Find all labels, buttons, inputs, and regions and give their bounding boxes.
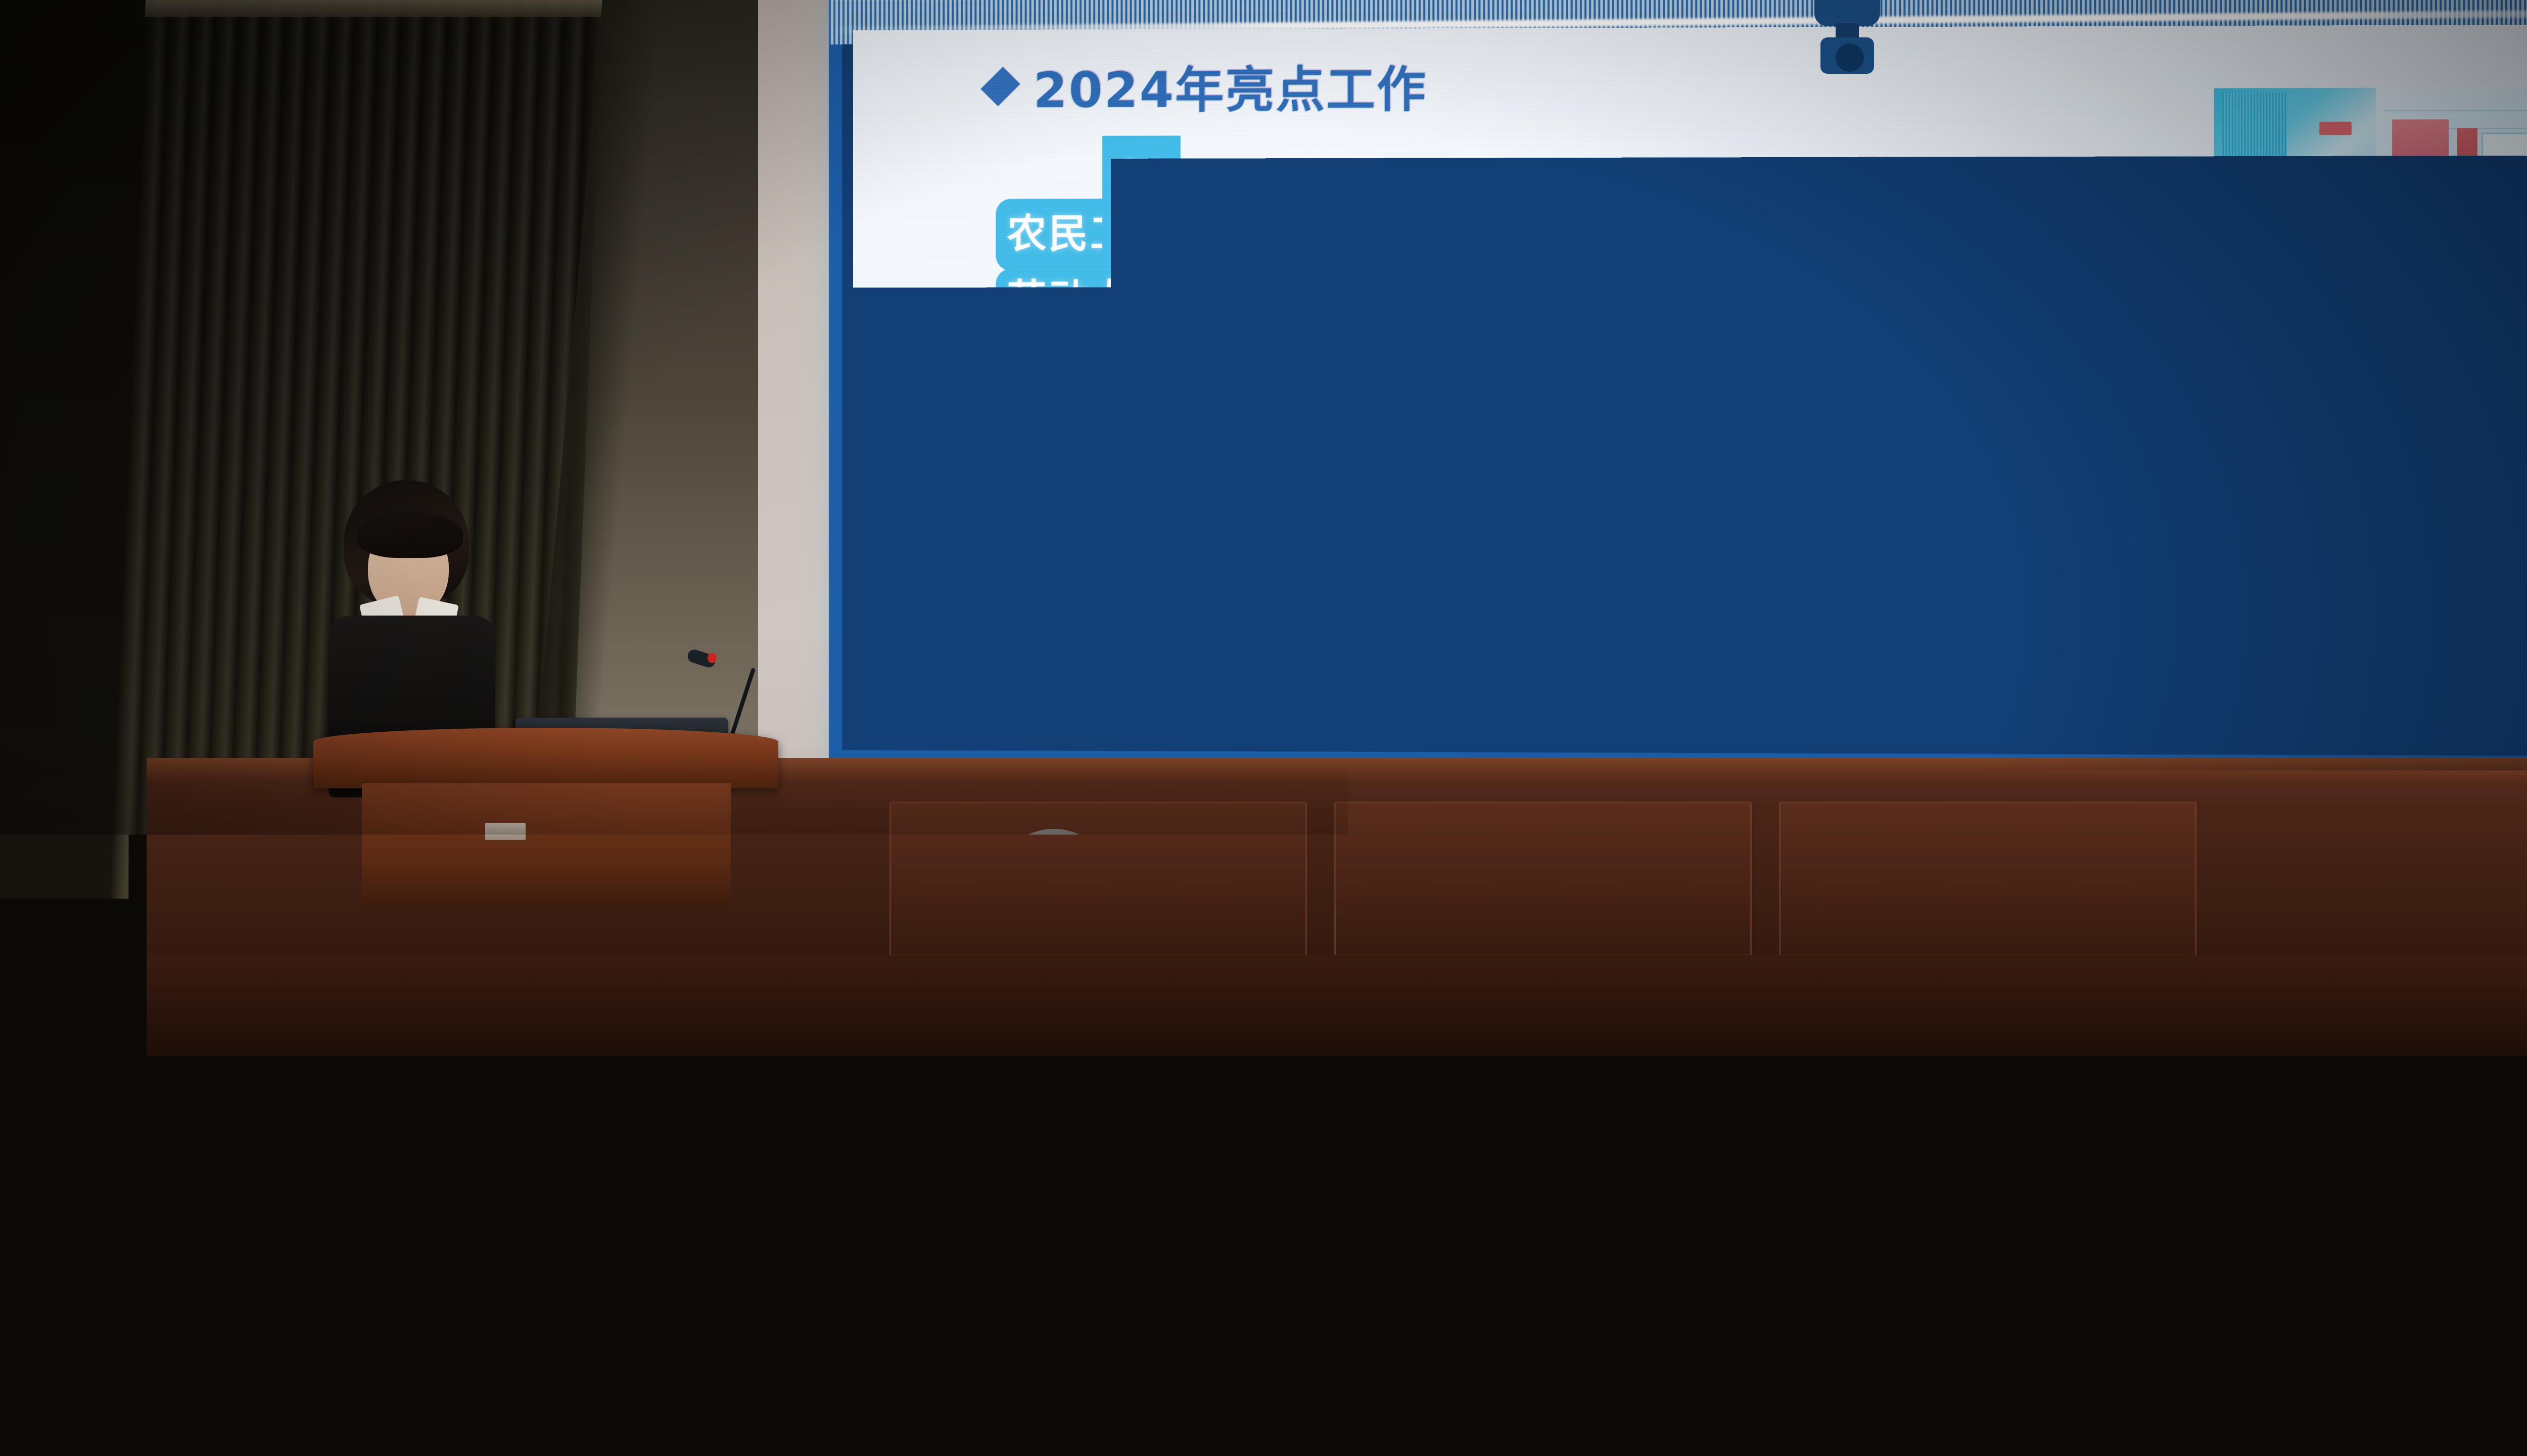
plaque-date: 二〇二五年十二月 <box>2370 515 2478 526</box>
plaque-issuer-left: 四川省人力资源和社会保障厅 四川省企业联合会/四川省企业家协会 <box>2275 484 2489 511</box>
audience-shoulders <box>10 1365 404 1456</box>
slide-body-column: 建立联动机制，成功化解10个项目欠薪问题，为2304名农民工与群众追回工资186… <box>1550 154 2172 568</box>
item-body-04: 建立联动机制，成功化解10个项目欠薪问题，为2304名农民工与群众追回工资186… <box>1550 154 2172 307</box>
slide-item-04: 04 农民工欠薪治理 <box>945 135 1515 136</box>
audience-head <box>788 1162 955 1344</box>
ceiling-camera-icon <box>1799 0 1895 76</box>
diamond-bullet-icon <box>980 67 1020 106</box>
slide-title-text: 2024年亮点工作 <box>1033 50 1427 121</box>
audience-shoulders <box>677 1324 1071 1456</box>
foreground-white-document-2 <box>2178 1205 2289 1296</box>
photo-blue-tint <box>2214 87 2527 313</box>
tea-cup <box>773 1046 834 1102</box>
slide-items-column: 04 农民工欠薪治理 05 劳动人事争议调解 <box>945 135 1515 212</box>
award-plaque: 四川省劳动人事争议 金牌调解组 四川省人力资源和社会保障厅 四川省企业联合会/四… <box>2214 319 2527 526</box>
plaque-title-line2: 金牌调解组 <box>2238 411 2524 482</box>
audience-shoulders <box>1329 1127 1734 1456</box>
presentation-slide: 2024年亮点工作 04 农民工欠薪治理 05 劳动人事争议调解 <box>853 24 2527 753</box>
item-number-04: 04 <box>1119 150 1163 193</box>
item-number-tab-04: 04 <box>1102 135 1181 208</box>
plaque-issuer-right: 四川 四川省 <box>2505 485 2527 512</box>
plaque-title-line1: 四川省劳动人事争议 <box>2260 353 2527 398</box>
tea-cup-knob <box>796 1029 810 1040</box>
audience-head <box>121 1203 293 1390</box>
slide-title: 2024年亮点工作 <box>985 50 1427 121</box>
audience-head <box>2234 991 2416 1188</box>
audience-shoulders <box>425 991 738 1213</box>
item-label-05: 劳动人事争议调解 <box>1005 277 1300 366</box>
audience-head <box>1440 960 1617 1152</box>
item-number-tab-05: 05 <box>1102 212 1181 277</box>
conference-photo-scene: 2024年亮点工作 04 农民工欠薪治理 05 劳动人事争议调解 <box>0 0 2527 1456</box>
item-label-pill-05: 劳动人事争议调解 <box>996 268 1309 375</box>
item-body-05: 打造省级金牌调解组织，运用创新模式化解纠纷414件，为1164人追回工资597.… <box>1550 367 2172 521</box>
presenter-fringe <box>357 511 463 558</box>
meeting-room-photo <box>2214 87 2527 313</box>
plaque-issuer-right-2: 四川省 <box>2505 498 2527 512</box>
tea-cup-logo <box>775 1058 795 1073</box>
plaque-issuer-right-1: 四川 <box>2505 485 2527 498</box>
audience-head <box>1835 935 2001 1117</box>
item-number-05: 05 <box>1119 223 1163 266</box>
slide-media-column: 四川省劳动人事争议 金牌调解组 四川省人力资源和社会保障厅 四川省企业联合会/四… <box>2214 87 2527 724</box>
curtain-rail <box>145 0 603 17</box>
microphone-indicator <box>708 653 717 663</box>
plaque-issuer-left-1: 四川省人力资源和社会保障厅 <box>2275 484 2489 498</box>
plaque-issuer-left-2: 四川省企业联合会/四川省企业家协会 <box>2275 498 2489 511</box>
